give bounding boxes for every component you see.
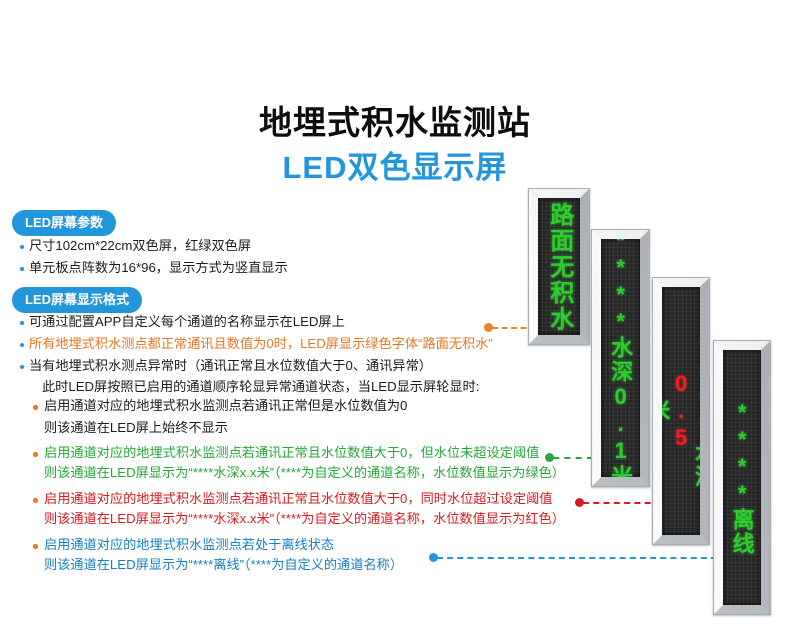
led-screen: ****离线: [723, 350, 761, 605]
case1-result: 则该通道在LED屏上始终不显示: [44, 420, 228, 435]
case1-condition: 启用通道对应的地埋式积水监测点若通讯正常但是水位数值为0: [44, 398, 407, 413]
led-screen: ****水深0.1米: [601, 239, 640, 477]
led-text-depth-normal: ****水深0.1米: [601, 239, 640, 477]
badge-led-params: LED屏幕参数: [12, 210, 116, 236]
format-line-rotate-note: 此时LED屏按照已启用的通道顺序轮显异常通道状态，当LED显示屏轮显时:: [42, 379, 479, 394]
led-seg-name: ****水深: [693, 333, 700, 489]
param-line-matrix: 单元板点阵数为16*96，显示方式为竖直显示: [29, 260, 288, 275]
led-screen: ****水深0.5米: [662, 287, 700, 535]
case4-result: 则该通道在LED屏显示为“****离线”（****为自定义的通道名称）: [44, 557, 403, 572]
led-screen: 路面无积水: [538, 198, 580, 335]
poster-canvas: 地埋式积水监测站 LED双色显示屏 LED屏幕参数 尺寸102cm*22cm双色…: [0, 0, 790, 632]
led-text-depth-alarm: ****水深0.5米: [662, 287, 700, 535]
format-line-app: 可通过配置APP自定义每个通道的名称显示在LED屏上: [29, 314, 345, 329]
connector-line-depth-normal: [553, 457, 593, 459]
format-line-normal: 所有地埋式积水测点都正常通讯且数值为0时，LED屏显示绿色字体“路面无积水”: [29, 336, 493, 351]
bullet-dot: [20, 245, 24, 249]
page-title: 地埋式积水监测站: [0, 96, 790, 144]
format-line-abnormal: 当有地埋式积水测点异常时（通讯正常且水位数值大于0、通讯异常）: [29, 358, 432, 373]
bullet-dot: [20, 321, 24, 325]
page-subtitle: LED双色显示屏: [0, 142, 790, 187]
case2-result: 则该通道在LED屏显示为“****水深x.x米”（****为自定义的通道名称，水…: [44, 465, 565, 480]
led-seg-value: 0.5: [669, 371, 692, 452]
bullet-dot: [20, 343, 24, 347]
bullet-dot: [20, 267, 24, 271]
case4-condition: 启用通道对应的地埋式积水监测点若处于离线状态: [44, 537, 334, 552]
connector-line-offline: [437, 557, 717, 559]
sub-bullet-dot: [33, 405, 38, 410]
led-seg-unit: 米: [662, 399, 669, 423]
bullet-dot: [20, 365, 24, 369]
connector-line-depth-alarm: [583, 502, 661, 504]
badge-led-format: LED屏幕显示格式: [12, 287, 142, 313]
sub-bullet-dot: [33, 498, 38, 503]
case3-result: 则该通道在LED屏显示为“****水深x.x米”（****为自定义的通道名称，水…: [44, 511, 565, 526]
sub-bullet-dot: [33, 452, 38, 457]
led-text-no-water: 路面无积水: [538, 198, 580, 335]
led-panel-depth-alarm[interactable]: ****水深0.5米: [652, 277, 710, 545]
led-panel-no-water[interactable]: 路面无积水: [528, 188, 590, 345]
led-panel-depth-normal[interactable]: ****水深0.1米: [591, 229, 650, 487]
case2-condition: 启用通道对应的地埋式积水监测点若通讯正常且水位数值大于0，但水位未超设定阈值: [44, 445, 539, 460]
sub-bullet-dot: [33, 544, 38, 549]
led-text-offline: ****离线: [723, 350, 761, 605]
param-line-size: 尺寸102cm*22cm双色屏，红绿双色屏: [29, 238, 251, 253]
case3-condition: 启用通道对应的地埋式积水监测点若通讯正常且水位数值大于0，同时水位超过设定阈值: [44, 491, 552, 506]
led-panel-offline[interactable]: ****离线: [713, 340, 771, 615]
